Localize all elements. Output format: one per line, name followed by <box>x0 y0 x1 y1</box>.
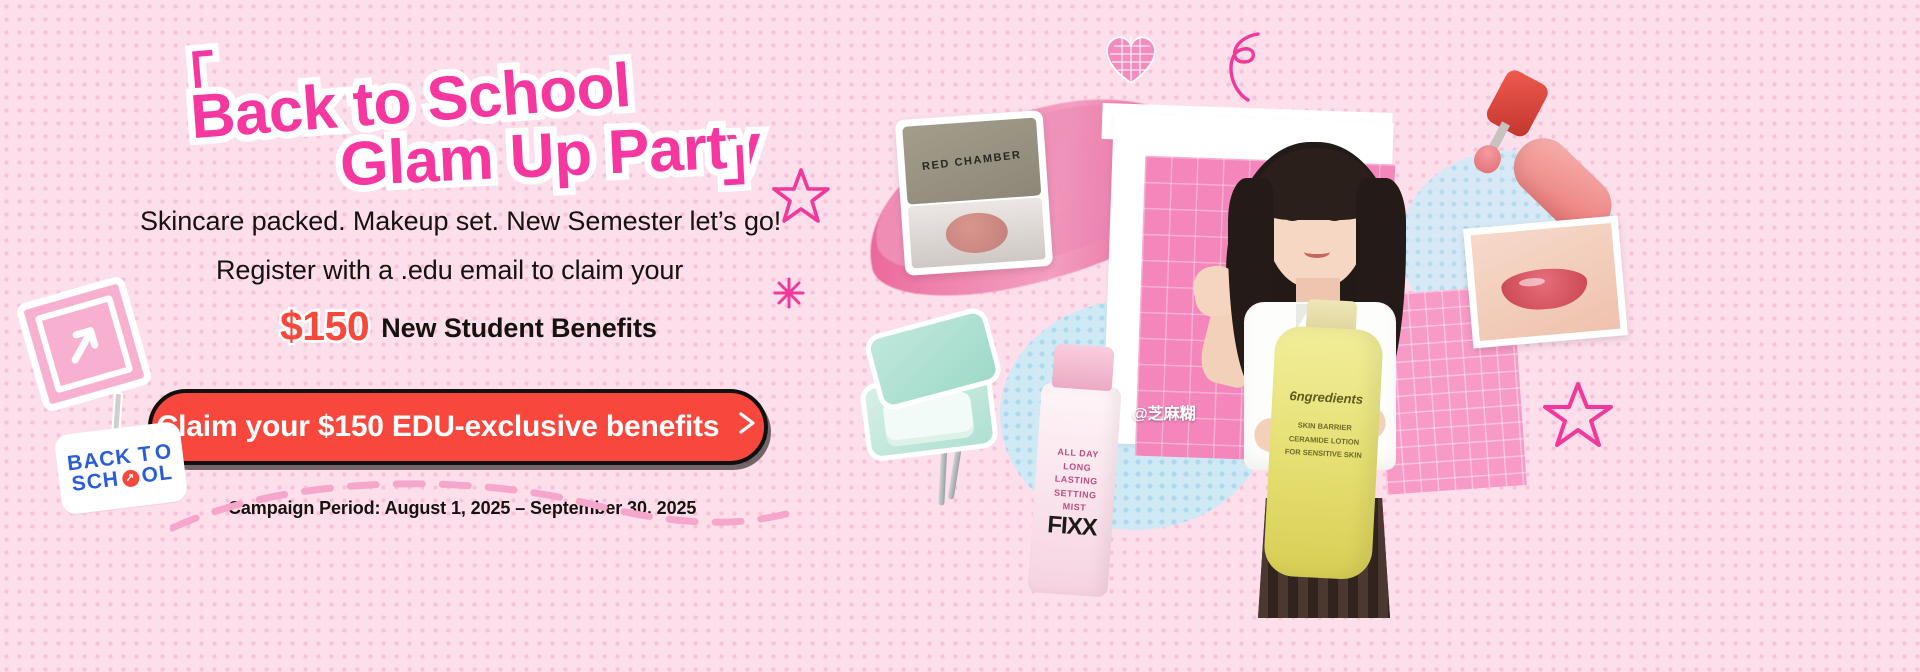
heart-doodle-icon <box>1100 30 1162 93</box>
squiggle-doodle-icon <box>1218 28 1276 111</box>
body-line-1: Skincare packed. Makeup set. New Semeste… <box>140 206 781 237</box>
gloss-cap <box>1483 67 1551 140</box>
lip-closeup-photo <box>1463 215 1628 348</box>
compact-blush-pan <box>944 211 1009 255</box>
body-line-2: Register with a .edu email to claim your <box>216 255 683 286</box>
cta-label: Claim your $150 EDU-exclusive benefits <box>157 410 720 444</box>
model-smile <box>1304 246 1330 258</box>
promo-banner: 「 Back to School Glam Up Party 」 Skincar… <box>0 0 1920 672</box>
back-to-school-sign-sticker: BACK TO SCH ↗ OL <box>18 282 193 512</box>
star-doodle-icon <box>770 165 832 232</box>
claim-benefits-button[interactable]: Claim your $150 EDU-exclusive benefits <box>148 389 768 465</box>
sticker-line-2-start: SCH <box>71 468 121 495</box>
creator-watermark: @芝麻糊 <box>1132 400 1196 424</box>
spray-cap <box>1052 343 1115 391</box>
lotion-body: 6ngredients SKIN BARRIER CERAMIDE LOTION… <box>1263 325 1384 580</box>
spray-caption: ALL DAY LONG LASTING SETTING MIST <box>1043 445 1110 517</box>
compact-brand-label: RED CHAMBER <box>921 149 1022 173</box>
product-mint-cotton-case <box>852 311 1018 468</box>
product-setting-spray: ALL DAY LONG LASTING SETTING MIST FIXX <box>1021 342 1130 598</box>
star-doodle-icon-2 <box>1540 378 1616 459</box>
product-compact-powder: RED CHAMBER <box>895 110 1054 276</box>
left-content-column: 「 Back to School Glam Up Party 」 Skincar… <box>0 0 840 672</box>
compact-base <box>908 197 1046 268</box>
dashed-path-doodle <box>170 470 790 545</box>
lip-photo-inner <box>1471 223 1621 341</box>
price-amount: $150 <box>280 303 369 350</box>
spray-body: ALL DAY LONG LASTING SETTING MIST FIXX <box>1027 382 1121 597</box>
back-to-school-text-sticker: BACK TO SCH ↗ OL <box>54 421 189 516</box>
product-collage: @芝麻糊 RED CHAMBER ALL DAY LONG LASTING SE… <box>840 0 1920 672</box>
lotion-sub-label: SKIN BARRIER CERAMIDE LOTION FOR SENSITI… <box>1283 418 1365 463</box>
headline-block: 「 Back to School Glam Up Party 」 <box>150 38 790 183</box>
gloss-applicator-tip <box>1470 141 1506 178</box>
sign-board <box>15 275 154 414</box>
lip-shape <box>1500 265 1589 312</box>
sticker-line-2-end: OL <box>140 462 174 487</box>
sticker-badge-icon: ↗ <box>121 469 140 488</box>
product-lotion-bottle: 6ngredients SKIN BARRIER CERAMIDE LOTION… <box>1263 297 1388 584</box>
spray-logo-label: FIXX <box>1031 510 1113 544</box>
body-line-3: $150 New Student Benefits <box>280 300 657 347</box>
chevron-right-icon <box>737 410 759 441</box>
compact-lid: RED CHAMBER <box>902 117 1041 204</box>
price-suffix-label: New Student Benefits <box>381 313 657 344</box>
sparkle-doodle-icon <box>772 276 806 315</box>
lotion-brand-label: 6ngredients <box>1272 387 1381 408</box>
